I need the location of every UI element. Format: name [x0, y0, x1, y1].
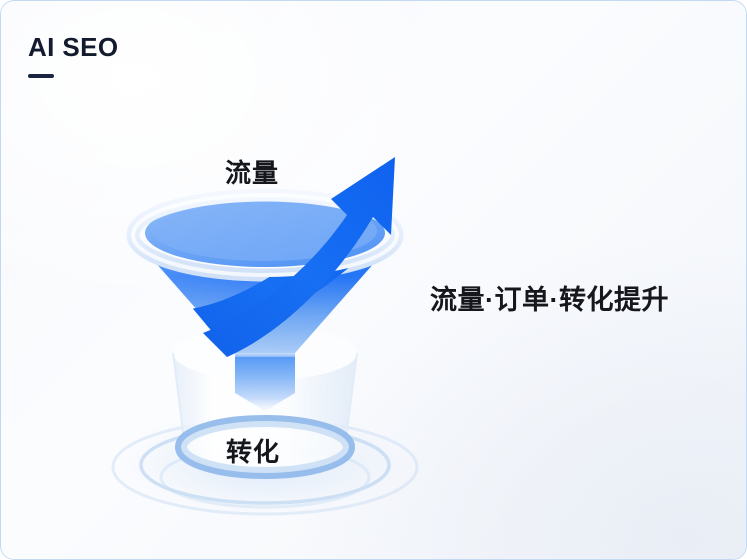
title-underline-rule: [28, 74, 54, 78]
page-title: AI SEO: [28, 34, 119, 60]
tagline-text: 流量·订单·转化提升: [430, 278, 669, 317]
label-conversion: 转化: [226, 432, 280, 469]
label-traffic: 流量: [225, 153, 279, 190]
title-block: AI SEO: [28, 34, 119, 78]
poster-canvas: AI SEO: [0, 0, 747, 560]
